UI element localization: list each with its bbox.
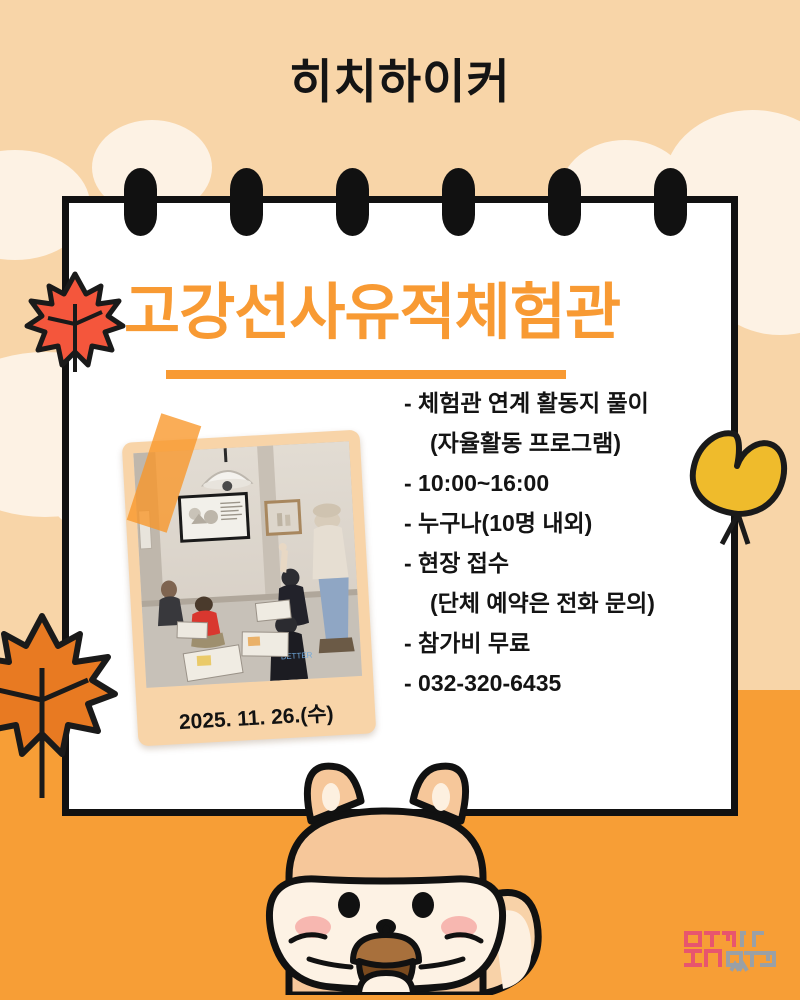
maple-leaf-red-icon	[22, 268, 128, 377]
binder-ring-icon	[336, 168, 369, 236]
binder-ring-icon	[548, 168, 581, 236]
poster-title: 히치하이커	[0, 43, 800, 112]
detail-line: - 032-320-6435	[404, 672, 734, 695]
title-divider	[166, 370, 566, 379]
detail-line: - 현장 접수	[404, 552, 734, 575]
binder-ring-icon	[124, 168, 157, 236]
binder-ring-icon	[230, 168, 263, 236]
detail-line: - 참가비 무료	[404, 632, 734, 655]
photo-date-caption: 2025. 11. 26.(수)	[137, 695, 376, 738]
detail-line: - 체험관 연계 활동지 풀이	[404, 392, 734, 415]
maple-leaf-orange-icon	[0, 608, 122, 803]
binder-rings	[62, 168, 738, 238]
binder-ring-icon	[654, 168, 687, 236]
page-title: 고강선사유적체험관	[124, 262, 724, 351]
culture-day-logo: 문화가 있는 날	[682, 929, 778, 982]
poster: 히치하이커 고강선사유적체험관	[0, 0, 800, 1000]
binder-ring-icon	[442, 168, 475, 236]
ginkgo-leaf-yellow-icon	[682, 418, 792, 551]
detail-line: (단체 예약은 전화 문의)	[404, 592, 734, 615]
squirrel-with-acorn-icon	[255, 755, 555, 1000]
